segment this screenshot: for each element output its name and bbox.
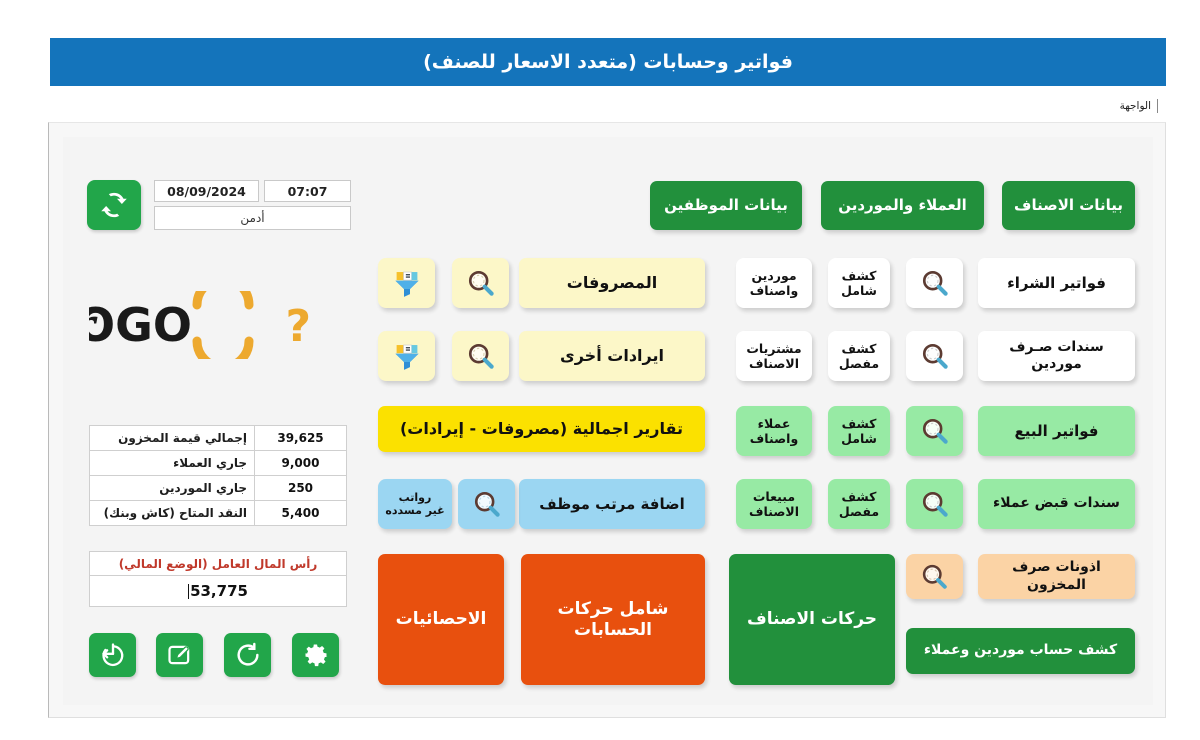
filter-funnel-icon	[392, 341, 422, 371]
user-field[interactable]: أدمن	[154, 206, 351, 230]
add-employee-salary-button[interactable]: اضافة مرتب موظف	[519, 479, 705, 529]
company-logo: Your LOGO ?	[86, 290, 351, 360]
edit-pencil-icon	[166, 641, 194, 669]
table-row: 250 جاري الموردين	[90, 476, 347, 501]
payroll-search-button[interactable]	[458, 479, 515, 529]
purchase-detailed-statement-button[interactable]: كشف مفصل	[828, 331, 890, 381]
time-field[interactable]: 07:07	[264, 180, 351, 202]
working-capital-value: 53,775	[190, 582, 248, 600]
window-title-bar: فواتير وحسابات (متعدد الاسعار للصنف)	[50, 38, 1166, 86]
item-transactions-button[interactable]: حركات الاصناف	[729, 554, 895, 685]
stock-issue-permits-button[interactable]: اذونات صرف المخزون	[978, 554, 1135, 599]
purchase-full-statement-button[interactable]: كشف شامل	[828, 258, 890, 308]
svg-text:?: ?	[285, 301, 311, 352]
sales-invoices-search-button[interactable]	[906, 406, 963, 456]
summary-label: جاري الموردين	[90, 476, 255, 501]
supplier-payment-vouchers-button[interactable]: سندات صـرف موردين	[978, 331, 1135, 381]
customer-receipt-vouchers-button[interactable]: سندات قبض عملاء	[978, 479, 1135, 529]
total-reports-button[interactable]: تقارير اجمالية (مصروفات - إيرادات)	[378, 406, 705, 452]
date-field[interactable]: 08/09/2024	[154, 180, 259, 202]
restore-undo-icon	[234, 641, 262, 669]
search-icon	[466, 268, 496, 298]
sales-invoices-button[interactable]: فواتير البيع	[978, 406, 1135, 456]
purchase-invoices-search-button[interactable]	[906, 258, 963, 308]
search-icon	[466, 341, 496, 371]
items-data-button[interactable]: بيانات الاصناف	[1002, 181, 1135, 230]
all-account-transactions-button[interactable]: شامل حركات الحسابات	[521, 554, 705, 685]
table-row: 9,000 جاري العملاء	[90, 451, 347, 476]
suppliers-customers-account-statement-button[interactable]: كشف حساب موردين وعملاء	[906, 628, 1135, 674]
expenses-filter-button[interactable]	[378, 258, 435, 308]
restore-button[interactable]	[224, 633, 271, 677]
summary-label: النقد المتاح (كاش وبنك)	[90, 501, 255, 526]
item-purchases-report-button[interactable]: مشتريات الاصناف	[736, 331, 812, 381]
search-icon	[920, 341, 950, 371]
logout-button[interactable]	[89, 633, 136, 677]
tab-main-interface[interactable]: الواجهة	[1116, 99, 1158, 113]
edit-button[interactable]	[156, 633, 203, 677]
summary-value: 39,625	[255, 426, 347, 451]
financial-summary-table: 39,625 إجمالي قيمة المخزون 9,000 جاري ال…	[89, 425, 347, 526]
suppliers-items-report-button[interactable]: موردين واصناف	[736, 258, 812, 308]
purchase-invoices-button[interactable]: فواتير الشراء	[978, 258, 1135, 308]
stock-issue-search-button[interactable]	[906, 554, 963, 599]
summary-value: 250	[255, 476, 347, 501]
other-revenues-button[interactable]: ايرادات أخرى	[519, 331, 705, 381]
sales-detailed-statement-button[interactable]: كشف مفصل	[828, 479, 890, 529]
customer-receipt-search-button[interactable]	[906, 479, 963, 529]
item-sales-report-button[interactable]: مبيعات الاصناف	[736, 479, 812, 529]
customers-suppliers-button[interactable]: العملاء والموردين	[821, 181, 984, 230]
summary-value: 5,400	[255, 501, 347, 526]
search-icon	[920, 268, 950, 298]
refresh-icon	[99, 190, 129, 220]
settings-button[interactable]	[292, 633, 339, 677]
search-icon	[920, 562, 949, 591]
employees-data-button[interactable]: بيانات الموظفين	[650, 181, 802, 230]
table-row: 5,400 النقد المتاح (كاش وبنك)	[90, 501, 347, 526]
other-revenues-search-button[interactable]	[452, 331, 509, 381]
working-capital-field[interactable]: 53,775	[90, 576, 346, 606]
tab-strip: الواجهة	[50, 94, 1166, 122]
expenses-button[interactable]: المصروفات	[519, 258, 705, 308]
search-icon	[920, 489, 950, 519]
filter-funnel-icon	[392, 268, 422, 298]
power-logout-icon	[99, 641, 127, 669]
unpaid-salaries-button[interactable]: رواتب غير مسدده	[378, 479, 452, 529]
table-row: 39,625 إجمالي قيمة المخزون	[90, 426, 347, 451]
sales-full-statement-button[interactable]: كشف شامل	[828, 406, 890, 456]
statistics-button[interactable]: الاحصائيات	[378, 554, 504, 685]
application-window: فواتير وحسابات (متعدد الاسعار للصنف) الو…	[0, 0, 1200, 740]
search-icon	[920, 416, 950, 446]
expenses-search-button[interactable]	[452, 258, 509, 308]
gear-icon	[302, 641, 330, 669]
other-revenues-filter-button[interactable]	[378, 331, 435, 381]
working-capital-label: رأس المال العامل (الوضع المالي)	[90, 552, 346, 576]
page-title: فواتير وحسابات (متعدد الاسعار للصنف)	[423, 51, 793, 73]
text-caret	[188, 584, 189, 599]
search-icon	[472, 489, 502, 519]
customers-items-report-button[interactable]: عملاء واصناف	[736, 406, 812, 456]
summary-label: جاري العملاء	[90, 451, 255, 476]
svg-text:LOGO: LOGO	[89, 298, 192, 352]
supplier-payment-search-button[interactable]	[906, 331, 963, 381]
working-capital-box: رأس المال العامل (الوضع المالي) 53,775	[89, 551, 347, 607]
summary-label: إجمالي قيمة المخزون	[90, 426, 255, 451]
summary-value: 9,000	[255, 451, 347, 476]
refresh-button[interactable]	[87, 180, 141, 230]
